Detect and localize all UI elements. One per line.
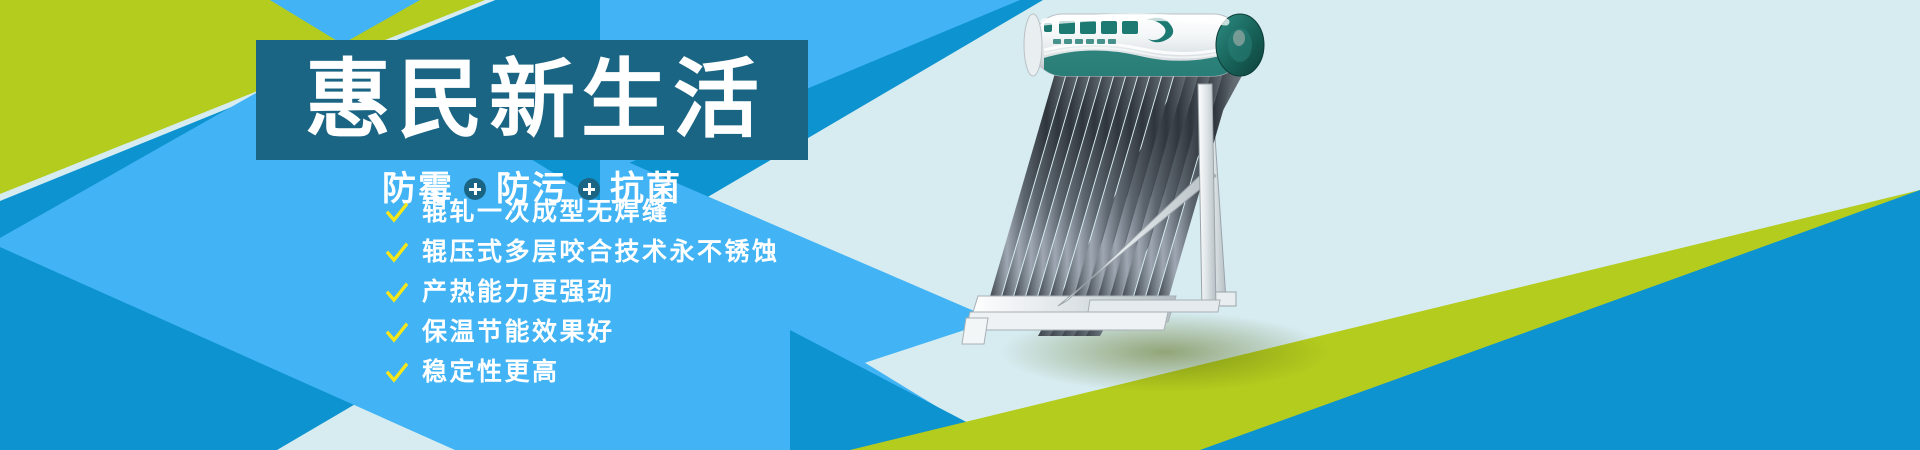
check-icon: [386, 282, 408, 304]
check-icon: [386, 362, 408, 384]
check-icon: [386, 322, 408, 344]
list-item-label: 保温节能效果好: [422, 320, 615, 345]
check-icon: [386, 242, 408, 264]
promo-banner: 惠民新生活 防霉 防污 抗菌 辊轧一次成型无焊缝 辊压式多层咬合技术永不锈蚀: [0, 0, 1920, 450]
list-item: 保温节能效果好: [386, 316, 780, 349]
list-item-label: 辊压式多层咬合技术永不锈蚀: [422, 240, 780, 265]
list-item: 辊压式多层咬合技术永不锈蚀: [386, 236, 780, 269]
list-item: 稳定性更高: [386, 356, 780, 389]
page-title: 惠民新生活: [299, 57, 765, 143]
title-block: 惠民新生活: [256, 40, 808, 160]
check-icon: [386, 202, 408, 224]
list-item: 产热能力更强劲: [386, 276, 780, 309]
list-item-label: 辊轧一次成型无焊缝: [422, 200, 670, 225]
feature-list: 辊轧一次成型无焊缝 辊压式多层咬合技术永不锈蚀 产热能力更强劲: [386, 196, 780, 389]
list-item-label: 产热能力更强劲: [422, 280, 615, 305]
bg-blue-corner-bottom-right: [1200, 190, 1920, 450]
list-item-label: 稳定性更高: [422, 360, 560, 385]
list-item: 辊轧一次成型无焊缝: [386, 196, 780, 229]
